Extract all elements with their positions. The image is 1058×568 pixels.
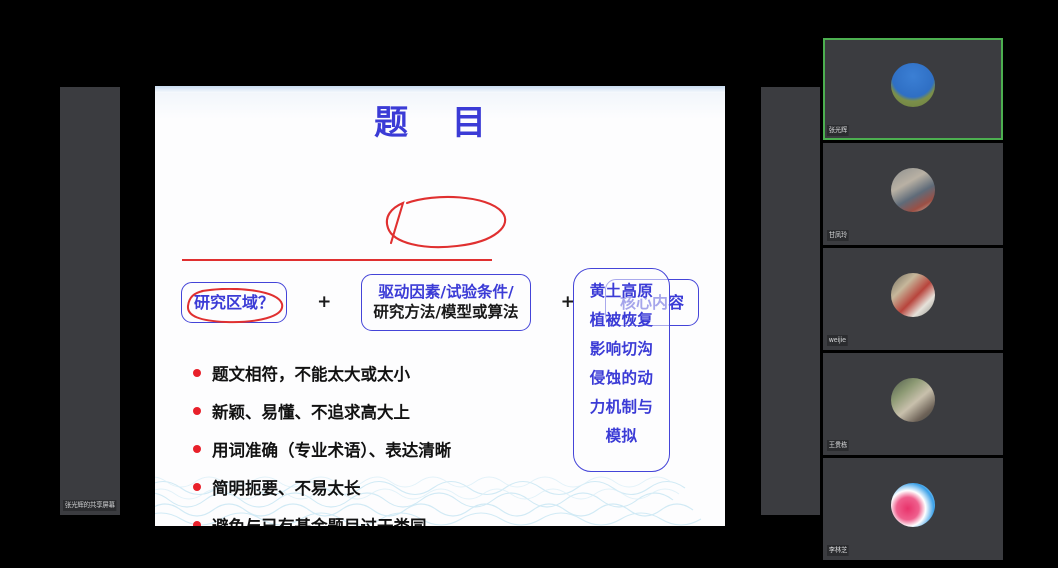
plus-sign-1: +	[313, 292, 335, 312]
bullet-dot-icon	[193, 483, 201, 491]
list-item: 简明扼要、不易太长	[193, 468, 593, 506]
participant-name: 王贵栋	[827, 440, 849, 451]
page-title: 题 目	[344, 102, 536, 145]
participant-name: 甘凤玲	[827, 230, 849, 241]
participant-name: 李林芝	[827, 545, 849, 556]
red-underline-annotation	[182, 259, 492, 261]
list-item: 题文相符，不能太大或太小	[193, 354, 593, 392]
list-item-label: 题文相符，不能太大或太小	[212, 361, 410, 385]
topic-line: 力机制与	[574, 393, 669, 422]
shared-screen-left-strip: 张光辉的共享屏幕	[60, 87, 120, 515]
bullet-dot-icon	[193, 445, 201, 453]
list-item: 新颖、易懂、不追求高大上	[193, 392, 593, 430]
shared-screen-right-strip	[761, 87, 820, 515]
bullet-dot-icon	[193, 369, 201, 377]
avatar	[891, 168, 935, 212]
list-item: 避免与已有基金题目过于类同	[193, 506, 593, 526]
participant-tile[interactable]: weijie	[823, 248, 1003, 350]
list-item-label: 新颖、易懂、不追求高大上	[212, 399, 410, 423]
list-item: 用词准确（专业术语）、表达清晰	[193, 430, 593, 468]
topic-line: 植被恢复	[574, 306, 669, 335]
formula-box-research-region-label: 研究区域？	[194, 293, 274, 312]
formula-box-drivers-line1: 驱动因素/试验条件/	[378, 283, 513, 301]
share-screen-label: 张光辉的共享屏幕	[63, 500, 117, 511]
bullet-dot-icon	[193, 407, 201, 415]
avatar	[891, 378, 935, 422]
zoom-meeting-screen: 张光辉的共享屏幕 题 目	[0, 0, 1058, 568]
participant-tile[interactable]: 王贵栋	[823, 353, 1003, 455]
avatar	[891, 273, 935, 317]
bullet-dot-icon	[193, 521, 201, 526]
formula-box-drivers-line2: 研究方法/模型或算法	[373, 303, 518, 321]
red-ellipse-annotation	[383, 195, 511, 251]
shared-slide[interactable]: 题 目 研究区域？ + 驱动因素/试验条件/ 研究方法/模型或算法 + 核心内容	[155, 86, 725, 526]
avatar	[891, 483, 935, 527]
topic-line: 黄土高原	[574, 277, 669, 306]
participant-name: 张光辉	[827, 125, 849, 136]
list-item-label: 用词准确（专业术语）、表达清晰	[212, 437, 451, 461]
slide-top-gradient-band	[155, 86, 725, 93]
participant-name: weijie	[827, 335, 848, 346]
bullet-list: 题文相符，不能太大或太小 新颖、易懂、不追求高大上 用词准确（专业术语）、表达清…	[193, 354, 593, 526]
participant-tile[interactable]: 甘凤玲	[823, 143, 1003, 245]
formula-box-research-region[interactable]: 研究区域？	[181, 282, 287, 323]
avatar	[891, 63, 935, 107]
formula-box-drivers[interactable]: 驱动因素/试验条件/ 研究方法/模型或算法	[361, 274, 530, 331]
slide-title-wrap: 题 目	[155, 102, 725, 145]
topic-line: 影响切沟	[574, 335, 669, 364]
participant-tile[interactable]: 张光辉	[823, 38, 1003, 140]
topic-line: 侵蚀的动	[574, 364, 669, 393]
list-item-label: 避免与已有基金题目过于类同	[212, 513, 427, 526]
participant-tile[interactable]: 李林芝	[823, 458, 1003, 560]
participant-filmstrip[interactable]: 张光辉 甘凤玲 weijie 王贵栋 李林芝	[823, 38, 1003, 560]
list-item-label: 简明扼要、不易太长	[212, 475, 361, 499]
example-topic-box[interactable]: 黄土高原 植被恢复 影响切沟 侵蚀的动 力机制与 模拟	[573, 268, 670, 472]
topic-line: 模拟	[574, 422, 669, 451]
